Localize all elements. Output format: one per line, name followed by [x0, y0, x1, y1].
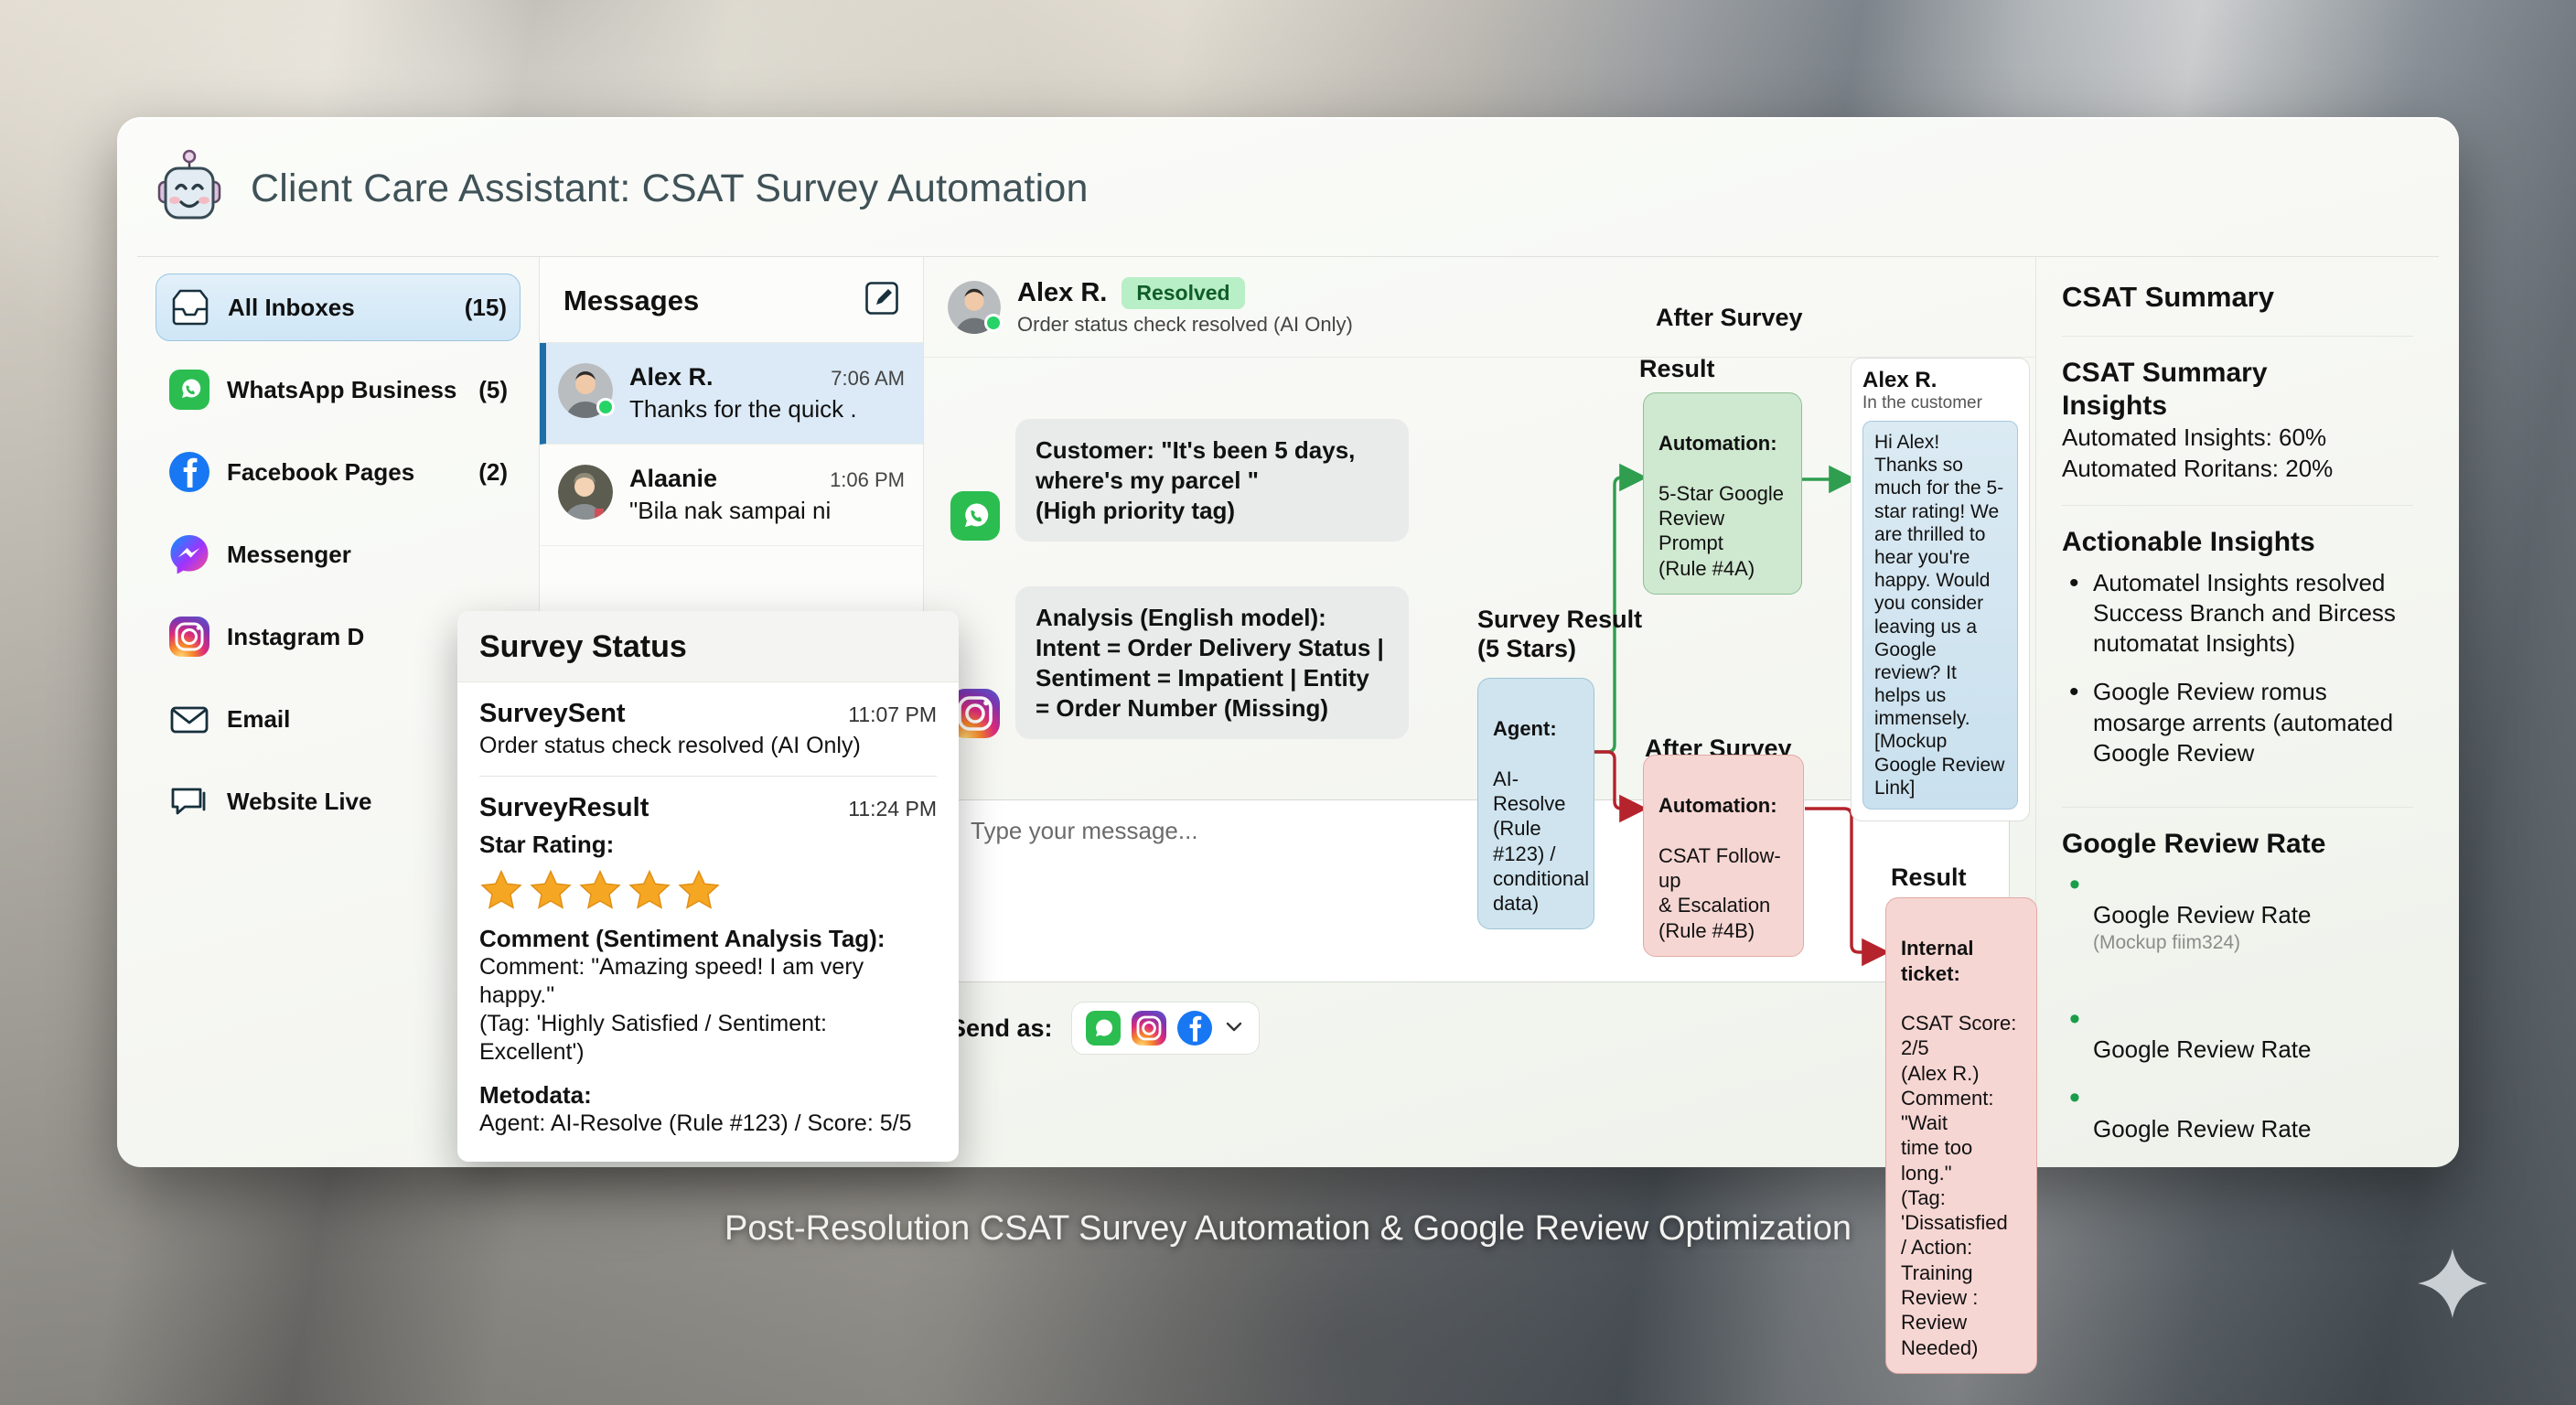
- list-item-name: Alex R.: [629, 363, 714, 391]
- sidebar-item-label: Messenger: [227, 541, 491, 569]
- sidebar-item-label: Website Live: [227, 788, 491, 816]
- email-icon: [168, 698, 210, 740]
- whatsapp-icon[interactable]: [1954, 928, 1992, 967]
- sidebar-item-label: Email: [227, 705, 491, 734]
- facebook-icon: [168, 451, 210, 493]
- sidebar-item-label: Instagram D: [227, 623, 491, 651]
- star-icon: [479, 868, 523, 912]
- actionable-insights-section: Actionable Insights Automatel Insights r…: [2062, 506, 2413, 809]
- summary-header-title: CSAT Summary: [2062, 281, 2413, 314]
- page-title: Client Care Assistant: CSAT Survey Autom…: [251, 166, 1089, 211]
- survey-sent-description: Order status check resolved (AI Only): [479, 733, 937, 759]
- comment-label: Comment (Sentiment Analysis Tag):: [479, 925, 937, 953]
- summary-insights-section: CSAT Summary Insights Automated Insights…: [2062, 337, 2413, 506]
- message-timestamp: 7:06 PM: [950, 383, 2001, 408]
- sidebar-item-whatsapp-business[interactable]: WhatsApp Business (5): [156, 356, 521, 424]
- review-rate-item: Google Review Rate: [2062, 1004, 2413, 1066]
- message-bubble: Analysis (English model): Intent = Order…: [1015, 586, 1409, 739]
- sidebar-item-label: Facebook Pages: [227, 458, 462, 487]
- reply-button[interactable]: Reply: [1889, 1001, 2010, 1056]
- avatar: [558, 363, 613, 418]
- google-review-rate-title: Google Review Rate: [2062, 828, 2413, 861]
- sidebar-item-all-inboxes[interactable]: All Inboxes (15): [156, 273, 521, 341]
- survey-sent-time: 11:07 PM: [848, 702, 937, 727]
- review-rate-label: Google Review Rate: [2093, 1035, 2311, 1063]
- list-item-name: Alaanie: [629, 465, 717, 493]
- star-icon: [677, 868, 721, 912]
- sparkle-icon: [2413, 1244, 2492, 1323]
- comment-text: Comment: "Amazing speed! I am very happy…: [479, 953, 937, 1067]
- messages-header: Messages: [540, 257, 923, 343]
- message-bubble: Customer: "It's been 5 days, where's my …: [1015, 419, 1409, 542]
- chat-bubble-icon: [168, 780, 210, 822]
- metadata-label: Metodata:: [479, 1081, 937, 1110]
- actionable-insight-item: Automatel Insights resolved Success Bran…: [2062, 568, 2413, 660]
- list-item-preview: Thanks for the quick .: [629, 395, 905, 424]
- metadata-text: Agent: AI-Resolve (Rule #123) / Score: 5…: [479, 1110, 937, 1138]
- instagram-icon: [168, 616, 210, 658]
- survey-status-popup: Survey Status SurveySent 11:07 PM Order …: [457, 611, 959, 1162]
- survey-result-key: SurveyResult: [479, 793, 649, 823]
- online-indicator: [596, 398, 615, 416]
- summary-insights-title: CSAT Summary Insights: [2062, 357, 2413, 423]
- summary-insight-line: Automated Roritans: 20%: [2062, 454, 2413, 485]
- avatar: [558, 465, 613, 520]
- star-icon: [628, 868, 671, 912]
- sidebar-item-count: (5): [478, 376, 508, 404]
- survey-status-title: Survey Status: [479, 629, 937, 665]
- composer: Type your message... Send as:: [924, 783, 2035, 1079]
- whatsapp-icon: [950, 490, 1001, 542]
- survey-sent-key: SurveySent: [479, 699, 626, 729]
- send-as-label: Send as:: [950, 1014, 1053, 1043]
- app-window: Client Care Assistant: CSAT Survey Autom…: [117, 117, 2459, 1167]
- robot-icon: [150, 149, 229, 228]
- message-input-placeholder: Type your message...: [971, 817, 1989, 845]
- chevron-down-icon[interactable]: [1222, 1014, 1246, 1043]
- chat-contact-name: Alex R.: [1017, 278, 1107, 308]
- actionable-insight-item: Google Review romus mosarge arrents (aut…: [2062, 677, 2413, 768]
- review-rate-item: Google Review Rate (Mockup fiim324): [2062, 870, 2413, 986]
- chat-message: 7:06 PM Customer: "It's been 5 days, whe…: [950, 383, 2010, 542]
- list-item-time: 1:06 PM: [830, 468, 905, 492]
- divider: [479, 776, 937, 777]
- summary-insight-line: Automated Insights: 60%: [2062, 423, 2413, 454]
- star-icon: [578, 868, 622, 912]
- survey-status-popup-header: Survey Status: [457, 611, 959, 682]
- star-icon: [529, 868, 573, 912]
- facebook-icon[interactable]: [1176, 1010, 1213, 1046]
- whatsapp-icon: [168, 369, 210, 411]
- status-badge: Resolved: [1122, 277, 1244, 309]
- avatar: [948, 281, 1001, 334]
- review-rate-label: Google Review Rate: [2093, 1115, 2311, 1142]
- send-as-channel-selector[interactable]: [1071, 1002, 1260, 1055]
- review-rate-sublabel: (Mockup fiim324): [2093, 931, 2413, 956]
- star-rating-label: Star Rating:: [479, 831, 937, 859]
- messenger-icon: [168, 533, 210, 575]
- chat-header: Alex R. Resolved Order status check reso…: [924, 257, 2035, 358]
- chat-subtitle: Order status check resolved (AI Only): [1017, 313, 1353, 337]
- whatsapp-icon[interactable]: [1085, 1010, 1122, 1046]
- titlebar: Client Care Assistant: CSAT Survey Autom…: [117, 117, 2459, 256]
- compose-icon[interactable]: [864, 281, 899, 320]
- list-item[interactable]: Alaanie 1:06 PM "Bila nak sampai ni: [540, 445, 923, 546]
- list-item[interactable]: Alex R. 7:06 AM Thanks for the quick .: [540, 343, 923, 445]
- sidebar-item-label: All Inboxes: [228, 294, 448, 322]
- chat-messages: 7:06 PM Customer: "It's been 5 days, whe…: [924, 358, 2035, 783]
- sidebar-item-label: WhatsApp Business: [227, 376, 462, 404]
- review-rate-label: Google Review Rate: [2093, 901, 2311, 928]
- sidebar-item-count: (15): [465, 294, 507, 322]
- star-rating: [479, 868, 937, 912]
- csat-summary-panel: CSAT Summary CSAT Summary Insights Autom…: [2036, 257, 2439, 1079]
- survey-result-time: 11:24 PM: [848, 797, 937, 821]
- caption: Post-Resolution CSAT Survey Automation &…: [0, 1209, 2576, 1249]
- inbox-icon: [169, 286, 211, 328]
- message-timestamp: 1:16 PM: [950, 551, 2001, 575]
- google-review-rate-section: Google Review Rate Google Review Rate (M…: [2062, 808, 2413, 1183]
- sidebar-item-messenger[interactable]: Messenger: [156, 520, 521, 588]
- sidebar-item-count: (2): [478, 458, 508, 487]
- instagram-icon[interactable]: [1131, 1010, 1167, 1046]
- chat-panel: Alex R. Resolved Order status check reso…: [924, 257, 2036, 1079]
- online-indicator: [984, 314, 1003, 332]
- sidebar-item-facebook-pages[interactable]: Facebook Pages (2): [156, 438, 521, 506]
- list-item-preview: "Bila nak sampai ni: [629, 497, 905, 525]
- actionable-insights-title: Actionable Insights: [2062, 526, 2413, 559]
- list-item-time: 7:06 AM: [831, 367, 905, 391]
- messages-title: Messages: [563, 284, 699, 317]
- chat-message: 1:16 PM: [950, 551, 2010, 739]
- message-input[interactable]: Type your message...: [950, 799, 2010, 982]
- summary-header: CSAT Summary: [2062, 257, 2413, 337]
- review-rate-item: Google Review Rate: [2062, 1083, 2413, 1144]
